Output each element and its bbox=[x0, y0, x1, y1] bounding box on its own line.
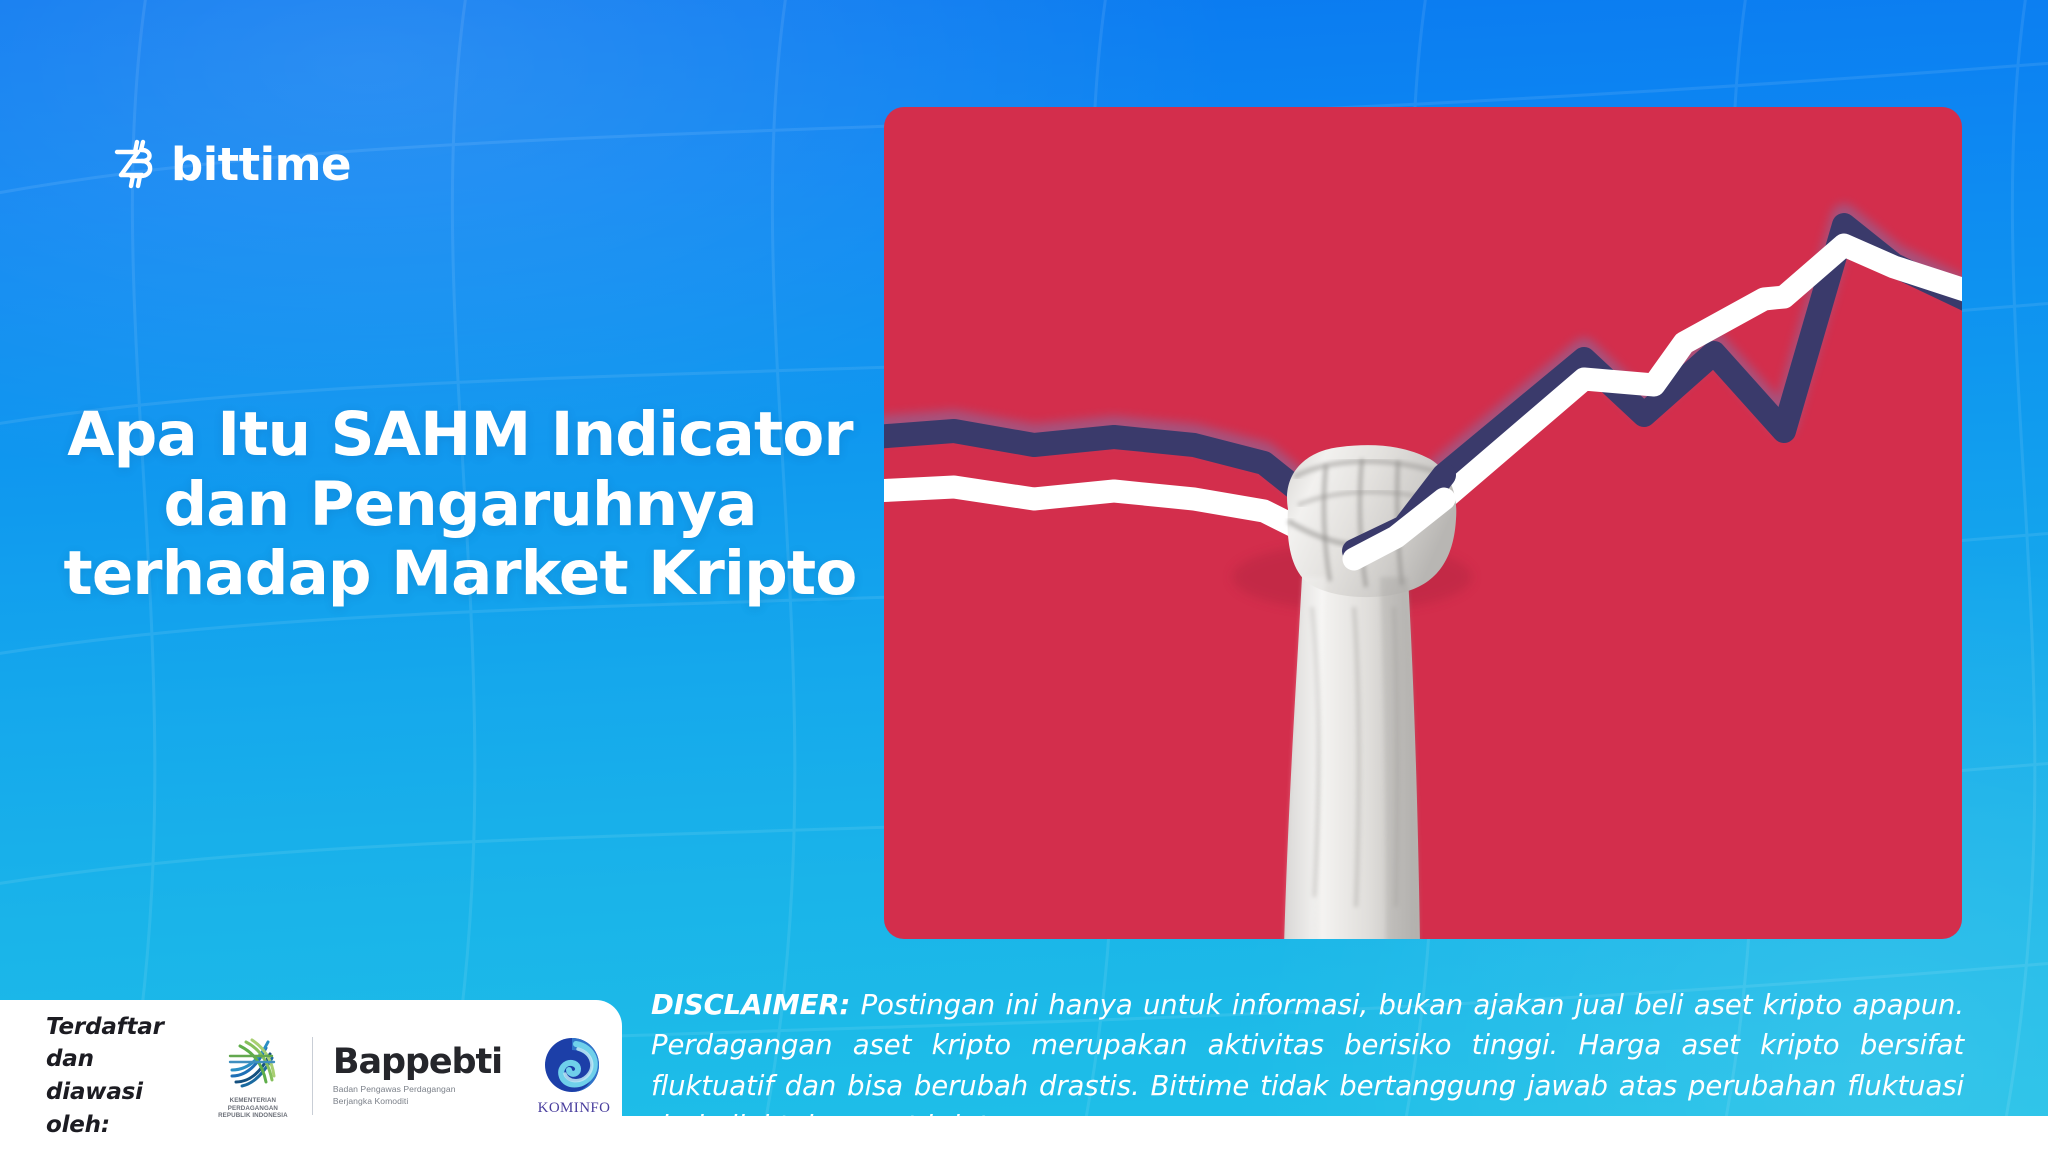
bappebti-subtitle: Badan Pengawas Perdagangan Berjangka Kom… bbox=[333, 1084, 502, 1106]
kominfo-caption: KOMINFO bbox=[538, 1100, 611, 1117]
page-title: Apa Itu SAHM Indicator dan Pengaruhnya t… bbox=[60, 400, 860, 609]
badge-divider bbox=[312, 1037, 313, 1115]
kemendag-caption: KEMENTERIAN PERDAGANGAN REPUBLIK INDONES… bbox=[218, 1097, 288, 1120]
regulator-label: Terdaftar dan diawasi oleh: bbox=[46, 1011, 188, 1142]
kemendag-logo-icon bbox=[222, 1032, 284, 1094]
disclaimer-label: DISCLAIMER: bbox=[651, 989, 850, 1021]
hero-image bbox=[884, 107, 1962, 939]
kominfo-logo-icon bbox=[538, 1035, 610, 1103]
kominfo-badge: KOMINFO bbox=[526, 1035, 622, 1117]
brand-logo[interactable]: bittime bbox=[113, 138, 351, 190]
poster-canvas: bittime Apa Itu SAHM Indicator dan Penga… bbox=[0, 0, 2048, 1152]
bappebti-badge: Bappebti Badan Pengawas Perdagangan Berj… bbox=[333, 1045, 502, 1106]
kemendag-badge: KEMENTERIAN PERDAGANGAN REPUBLIK INDONES… bbox=[214, 1032, 292, 1120]
regulator-badge-card: Terdaftar dan diawasi oleh: bbox=[0, 1000, 622, 1152]
bittime-b-mark-icon bbox=[113, 139, 157, 189]
hero-chart-illustration bbox=[884, 107, 1962, 939]
brand-logo-text: bittime bbox=[171, 142, 351, 187]
regulator-logo-group: KEMENTERIAN PERDAGANGAN REPUBLIK INDONES… bbox=[214, 1032, 622, 1120]
bappebti-name: Bappebti bbox=[333, 1045, 502, 1080]
